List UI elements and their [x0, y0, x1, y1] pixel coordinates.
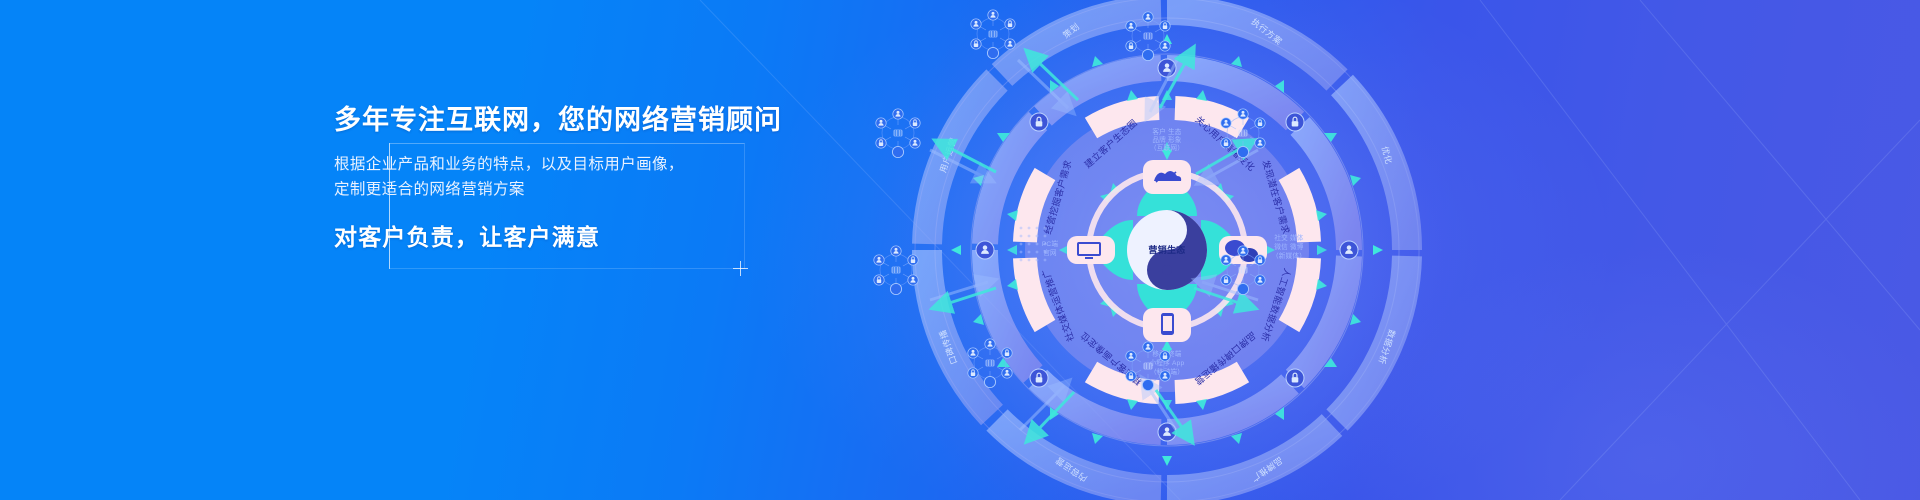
marketing-banner: 多年专注互联网，您的网络营销顾问 根据企业产品和业务的特点，以及目标用户画像， …: [0, 0, 1920, 500]
cardinal-note-bottom-3: （移动端）: [1150, 367, 1184, 376]
hero-tagline: 对客户负责，让客户满意: [334, 218, 804, 252]
cardinal-note-right-2: 微信 微博: [1274, 242, 1303, 251]
marketing-ecosystem-wheel: 策划 执行方案 优化 数据分析 品牌推广 内容运营 口碑传播 用户运营: [845, 0, 1490, 500]
page-title: 多年专注互联网，您的网络营销顾问: [334, 106, 804, 136]
core-label: 营销生态: [1148, 244, 1185, 255]
hero-subtitle-line-2: 定制更适合的网络营销方案: [334, 177, 804, 202]
hero-subtitle: 根据企业产品和业务的特点，以及目标用户画像， 定制更适合的网络营销方案: [334, 152, 804, 202]
hero-text-panel: 多年专注互联网，您的网络营销顾问 根据企业产品和业务的特点，以及目标用户画像， …: [389, 143, 745, 269]
cardinal-note-top-3: （互联网）: [1150, 143, 1184, 152]
cardinal-note-right-1: 社交 媒体: [1274, 233, 1303, 242]
cardinal-node-right: 社交 媒体 微信 微博 （新媒体）: [1219, 233, 1306, 264]
cardinal-note-top-1: 客户 生态: [1152, 127, 1181, 136]
hero-subtitle-line-1: 根据企业产品和业务的特点，以及目标用户画像，: [334, 152, 804, 177]
mobile-phone-icon: [1161, 313, 1174, 335]
crosshair-icon: [733, 261, 748, 276]
cardinal-note-bottom-2: 小程序 App: [1150, 358, 1185, 367]
cardinal-note-bottom-1: 移动 终端: [1152, 349, 1181, 358]
yin-yang-icon: 营销生态: [1127, 210, 1207, 290]
cardinal-note-top-2: 品牌 形象: [1152, 135, 1181, 144]
cardinal-note-right-3: （新媒体）: [1272, 251, 1306, 260]
